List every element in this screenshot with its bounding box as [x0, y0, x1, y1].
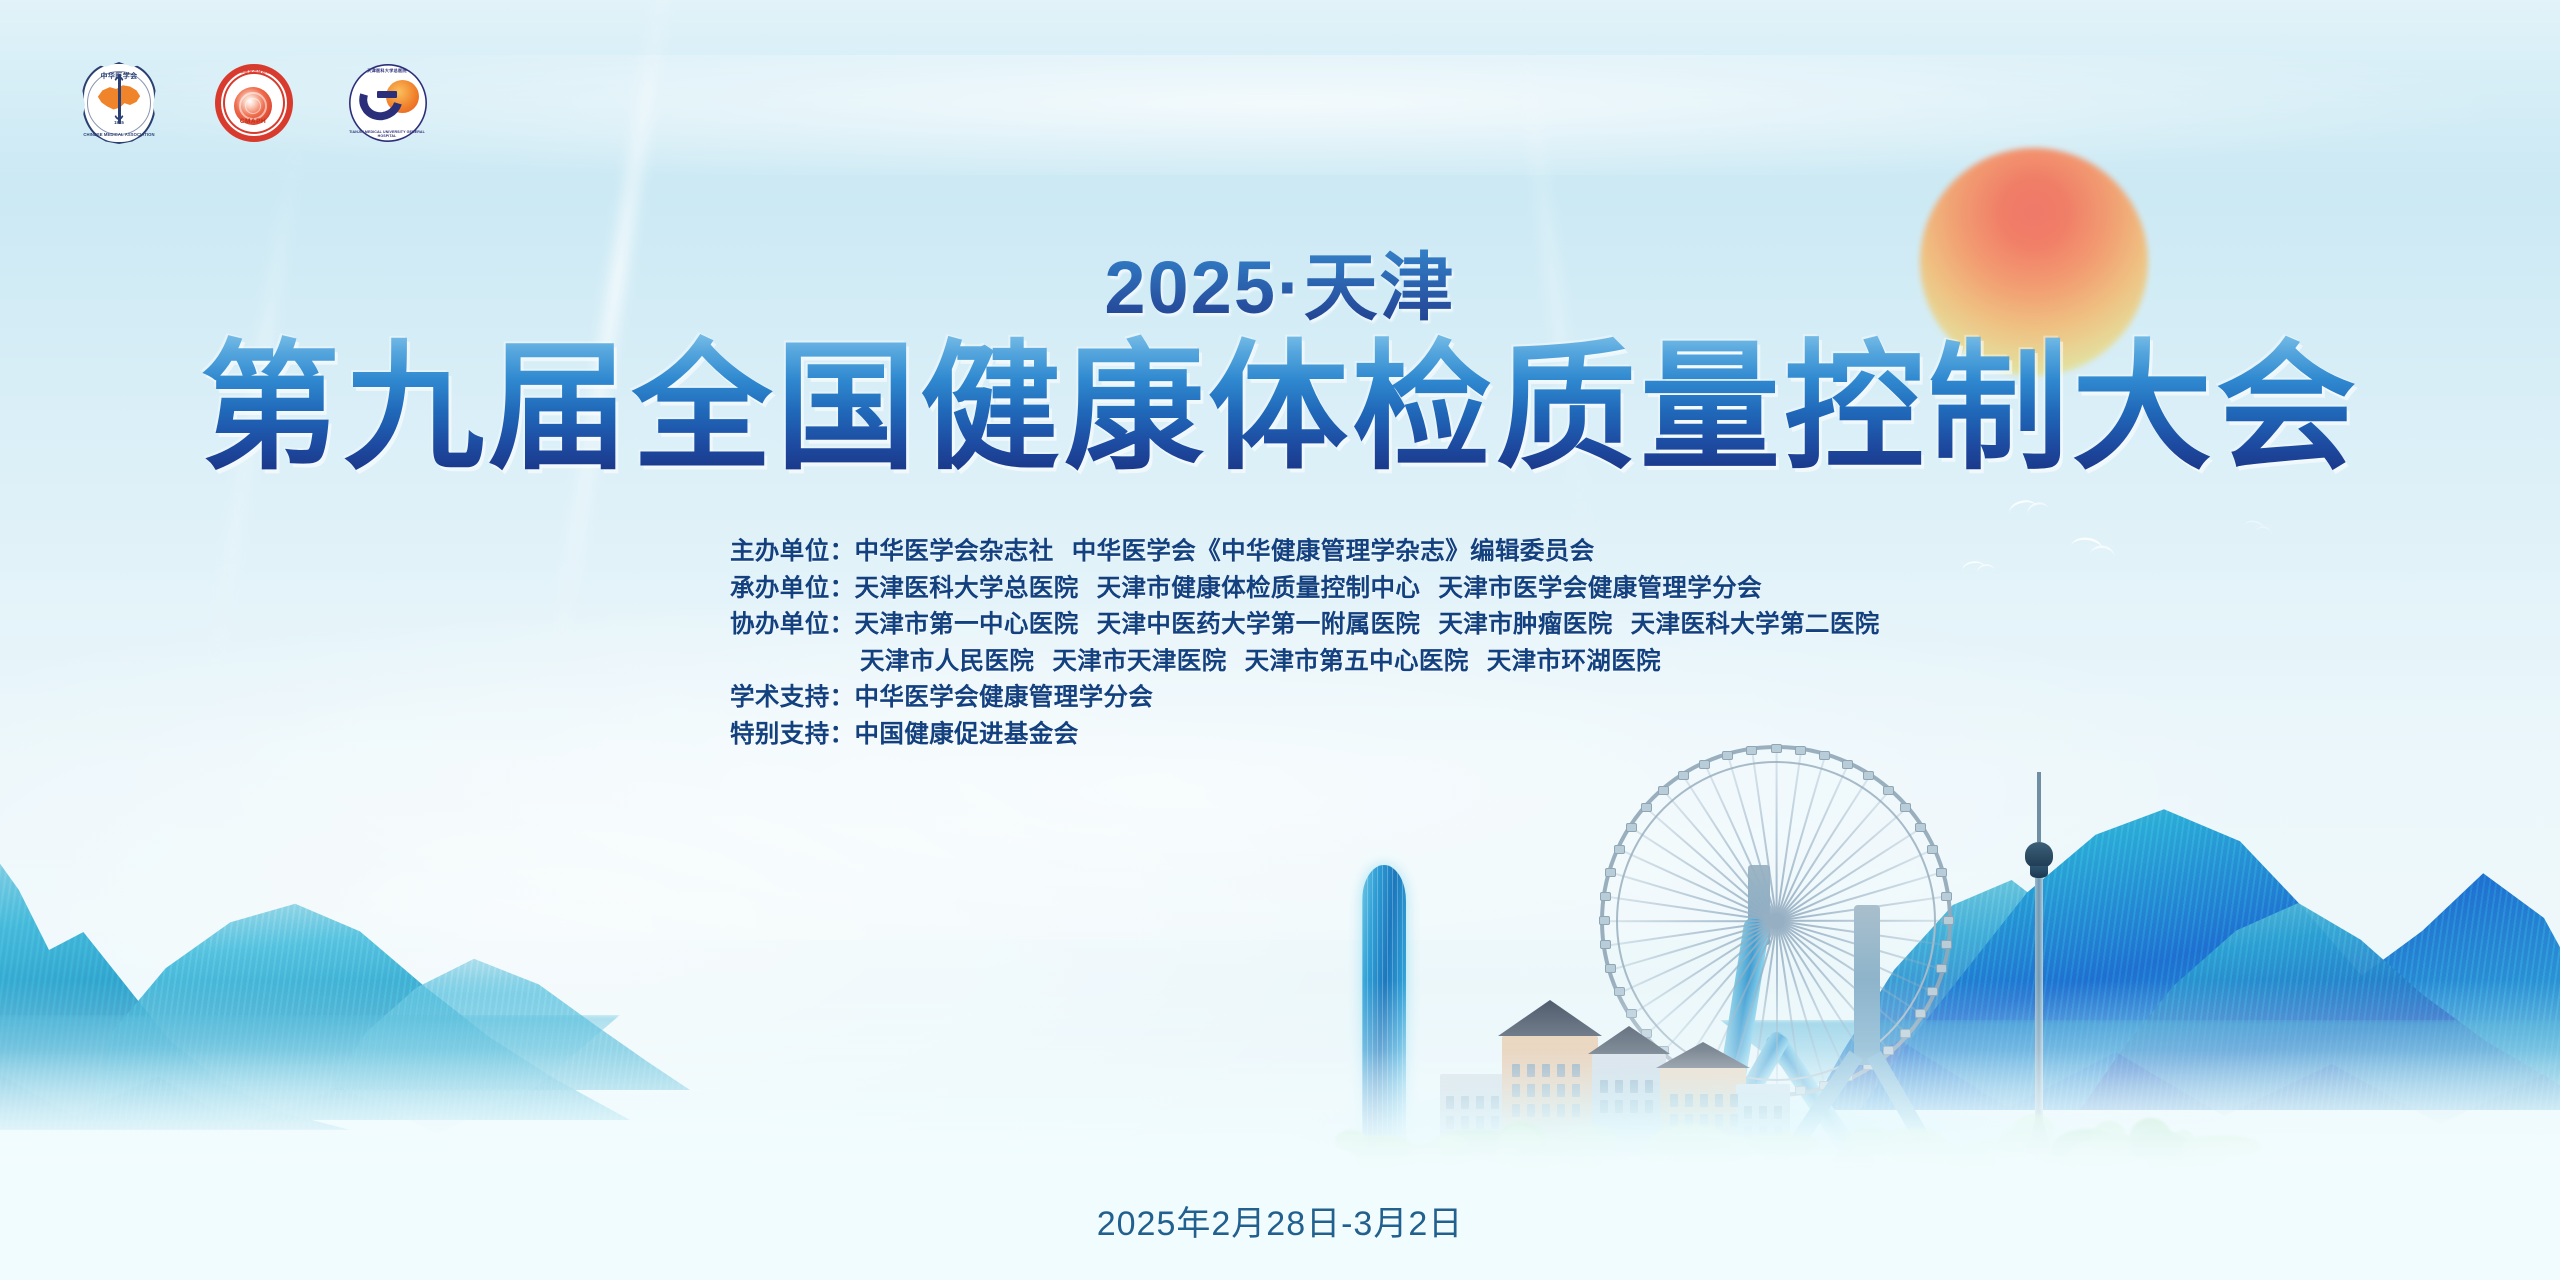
cma-logo-bottom-text: CHINESE MEDICAL ASSOCIATION — [78, 132, 160, 137]
organization-label: 学术支持： — [730, 680, 855, 717]
ferris-wheel-spoke — [1628, 920, 1777, 1016]
ferris-wheel-cabin — [1658, 786, 1669, 795]
ferris-wheel-spoke — [1777, 871, 1946, 922]
ferris-wheel-spoke — [1602, 920, 1776, 947]
ferris-wheel-cabin — [1678, 771, 1689, 780]
ferris-wheel-spoke — [1643, 920, 1777, 1036]
ferris-wheel-spoke — [1616, 920, 1777, 995]
ferris-wheel-spoke — [1751, 747, 1778, 921]
ferris-wheel-cabin — [1863, 771, 1874, 780]
organization-label: 承办单位： — [730, 571, 855, 608]
ferris-wheel-spoke — [1777, 920, 1953, 922]
chinese-medical-association-logo: 中华医学会 1915 CHINESE MEDICAL ASSOCIATION — [78, 60, 160, 146]
light-ray-icon — [206, 133, 302, 688]
ferris-wheel-spoke — [1643, 805, 1777, 921]
ferris-wheel-spoke — [1776, 752, 1827, 921]
ferris-wheel-spoke — [1661, 920, 1777, 1054]
organization-line: 承办单位：天津医科大学总医院天津市健康体检质量控制中心天津市医学会健康管理学分会 — [730, 571, 1880, 608]
tianjin-eye-ferris-wheel-icon — [1600, 745, 1952, 1097]
organization-name: 天津市第五中心医院 — [1245, 648, 1469, 675]
bird-icon — [2243, 519, 2273, 535]
snake-icon — [111, 76, 127, 120]
ferris-wheel-cabin — [1936, 964, 1947, 973]
ferris-wheel-spoke — [1681, 921, 1777, 1070]
rising-sun-icon — [1920, 148, 2148, 376]
bar-icon — [377, 91, 397, 98]
organization-label: 主办单位： — [730, 534, 855, 571]
ferris-wheel-spoke — [1628, 825, 1777, 921]
organization-line: 天津市人民医院天津市天津医院天津市第五中心医院天津市环湖医院 — [730, 644, 1880, 681]
ferris-wheel-cabin — [1927, 845, 1938, 854]
ferris-wheel-cabin — [1943, 916, 1954, 925]
ferris-wheel-cabin — [1600, 940, 1611, 949]
ferris-wheel-spoke — [1608, 920, 1777, 971]
ferris-wheel-spoke — [1601, 920, 1777, 922]
organization-name: 天津市天津医院 — [1052, 648, 1226, 675]
ferris-wheel-spoke — [1777, 920, 1946, 971]
ferris-wheel-spoke — [1616, 847, 1777, 922]
ferris-wheel-cabin — [1605, 964, 1616, 973]
organization-line: 主办单位：中华医学会杂志社中华医学会《中华健康管理学杂志》编辑委员会 — [730, 534, 1880, 571]
ferris-wheel-spoke — [1608, 871, 1777, 922]
ferris-wheel-cabin — [1614, 987, 1625, 996]
ferris-wheel-spoke — [1661, 787, 1777, 921]
organization-name: 天津市肿瘤医院 — [1438, 611, 1612, 638]
ferris-wheel-spoke — [1776, 773, 1872, 922]
ferris-wheel-spoke — [1602, 895, 1776, 922]
organization-name: 天津市第一中心医院 — [855, 611, 1079, 638]
organization-name: 中华医学会杂志社 — [855, 538, 1054, 565]
cma-logo-top-text: 中华医学会 — [78, 71, 160, 81]
ferris-wheel-spoke — [1681, 773, 1777, 922]
ferris-wheel-cabin — [1605, 868, 1616, 877]
organization-line: 特别支持：中国健康促进基金会 — [730, 717, 1880, 754]
ferris-wheel-spoke — [1703, 761, 1778, 922]
ferris-wheel-spoke — [1776, 805, 1910, 921]
ferris-wheel-cabin — [1900, 803, 1911, 812]
bird-icon — [2007, 495, 2049, 520]
organization-name: 天津医科大学总医院 — [855, 575, 1079, 602]
ferris-wheel-cabin — [1900, 1029, 1911, 1038]
organization-label: 协办单位： — [730, 607, 855, 644]
ferris-wheel-cabin — [1626, 1009, 1637, 1018]
ferris-wheel-spoke — [1776, 745, 1778, 921]
organization-name: 中国健康促进基金会 — [855, 721, 1079, 748]
organization-name: 中华医学会《中华健康管理学杂志》编辑委员会 — [1072, 538, 1595, 565]
organization-info-block: 主办单位：中华医学会杂志社中华医学会《中华健康管理学杂志》编辑委员会承办单位：天… — [730, 534, 1880, 753]
tmu-logo-arc-bottom: TIANJIN MEDICAL UNIVERSITY GENERAL HOSPI… — [346, 130, 428, 138]
organization-line: 学术支持：中华医学会健康管理学分会 — [730, 680, 1880, 717]
light-ray-icon — [1518, 41, 1592, 558]
ferris-wheel-spoke — [1777, 920, 1951, 947]
organization-name: 天津市人民医院 — [860, 648, 1034, 675]
ferris-wheel-cabin — [1915, 823, 1926, 832]
ferris-wheel-spoke — [1776, 787, 1892, 921]
ferris-wheel-cabin — [1599, 916, 1610, 925]
bird-icon — [2070, 536, 2117, 558]
cmaph-logo-label: CMAPH — [212, 118, 294, 125]
poster-kicker: 2025·天津 — [0, 228, 2560, 335]
ferris-wheel-cabin — [1927, 987, 1938, 996]
ferris-wheel-spoke — [1776, 920, 1910, 1036]
ferris-wheel-spoke — [1777, 895, 1951, 922]
organization-line: 协办单位：天津市第一中心医院天津中医药大学第一附属医院天津市肿瘤医院天津医科大学… — [730, 607, 1880, 644]
ferris-wheel-cabin — [1641, 1029, 1652, 1038]
ferris-wheel-cabin — [1641, 803, 1652, 812]
conference-date: 2025年2月28日-3月2日 — [0, 1196, 2560, 1245]
ferris-wheel-spoke — [1776, 847, 1937, 922]
page-title: 第九届全国健康体检质量控制大会 — [0, 330, 2560, 487]
conference-poster: 中华医学会 1915 CHINESE MEDICAL ASSOCIATION 中… — [0, 0, 2560, 1280]
ferris-wheel-cabin — [1941, 892, 1952, 901]
bottom-fog-overlay — [0, 1050, 2560, 1280]
ferris-wheel-spoke — [1726, 752, 1777, 921]
ferris-wheel-pylon — [1748, 865, 1770, 945]
ferris-wheel-cabin — [1600, 892, 1611, 901]
light-ray-icon — [551, 0, 673, 657]
organization-name: 中华医学会健康管理学分会 — [855, 684, 1154, 711]
cma-logo-year: 1915 — [78, 120, 160, 125]
ferris-wheel-cabin — [1842, 760, 1853, 769]
ferris-wheel-cabin — [1699, 760, 1710, 769]
bird-icon — [1961, 559, 1995, 576]
organization-name: 天津市环湖医院 — [1487, 648, 1661, 675]
ferris-wheel-spoke — [1776, 747, 1803, 921]
ferris-wheel-cabin — [1883, 786, 1894, 795]
organization-name: 天津医科大学第二医院 — [1631, 611, 1880, 638]
ferris-wheel-cabin — [1614, 845, 1625, 854]
organization-label: 特别支持： — [730, 717, 855, 754]
ferris-wheel-spoke — [1776, 920, 1925, 1016]
ferris-wheel-spoke — [1776, 920, 1937, 995]
tmu-logo-arc-top: 天津医科大学总医院 — [346, 68, 428, 74]
cmaph-logo: 中华医学会杂志社 CMAPH — [212, 60, 294, 146]
organization-name: 天津中医药大学第一附属医院 — [1097, 611, 1421, 638]
ferris-wheel-spoke — [1776, 825, 1925, 921]
ferris-wheel-cabin — [1936, 868, 1947, 877]
tianjin-medical-university-general-hospital-logo: 天津医科大学总医院 TIANJIN MEDICAL UNIVERSITY GEN… — [346, 60, 428, 146]
organization-name: 天津市医学会健康管理学分会 — [1438, 575, 1762, 602]
organization-name: 天津市健康体检质量控制中心 — [1097, 575, 1421, 602]
ferris-wheel-cabin — [1941, 940, 1952, 949]
ferris-wheel-spoke — [1776, 761, 1851, 922]
organizer-logo-row: 中华医学会 1915 CHINESE MEDICAL ASSOCIATION 中… — [78, 60, 428, 146]
ferris-wheel-spoke — [1776, 920, 1892, 1054]
ferris-wheel-cabin — [1626, 823, 1637, 832]
cmaph-logo-arc-text: 中华医学会杂志社 — [212, 69, 294, 75]
ferris-wheel-spoke — [1776, 921, 1872, 1070]
ferris-wheel-cabin — [1915, 1009, 1926, 1018]
